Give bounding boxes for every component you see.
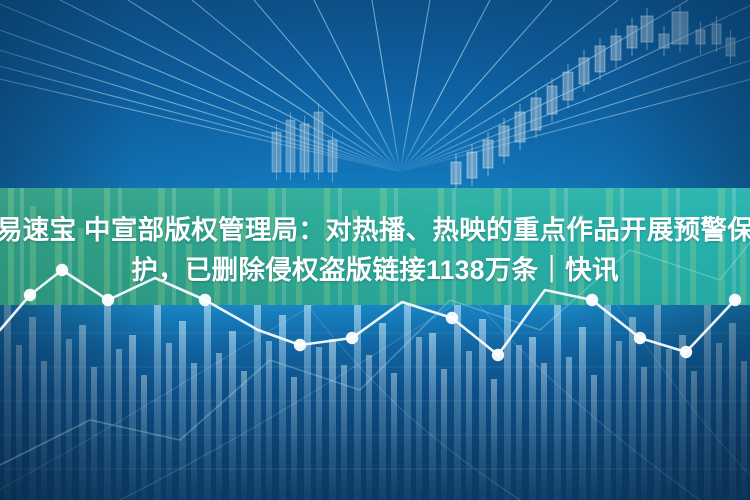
news-banner-image: 易速宝 中宣部版权管理局：对热播、热映的重点作品开展预警保 护，已删除侵权盗版链… <box>0 0 750 500</box>
headline-line-2: 护，已删除侵权盗版链接1138万条｜快讯 <box>131 250 619 290</box>
headline-block: 易速宝 中宣部版权管理局：对热播、热映的重点作品开展预警保 护，已删除侵权盗版链… <box>0 196 750 304</box>
headline-line-1: 易速宝 中宣部版权管理局：对热播、热映的重点作品开展预警保 <box>0 210 750 250</box>
